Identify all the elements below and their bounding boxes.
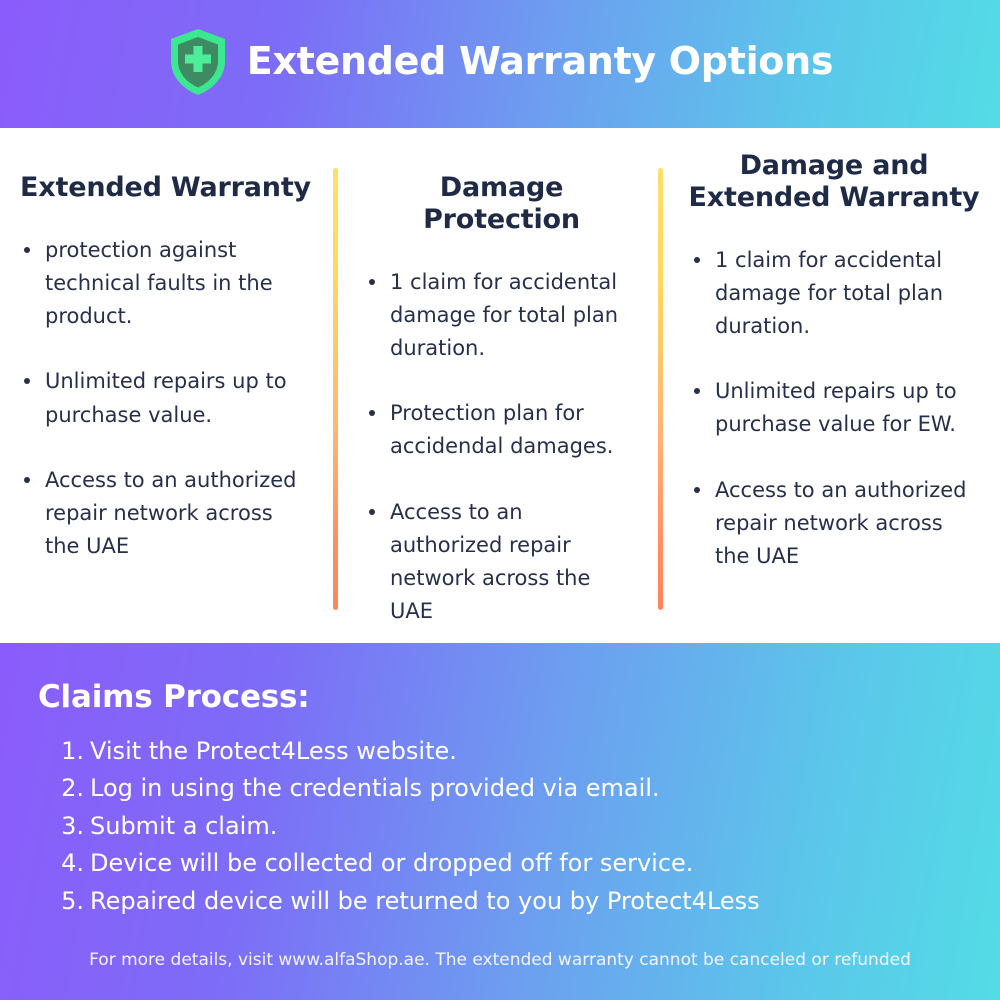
column-title: Damage and Extended Warranty — [688, 150, 980, 214]
shield-plus-icon — [167, 27, 229, 97]
claims-step: Submit a claim. — [58, 808, 970, 845]
feature-item: Access to an authorized repair network a… — [688, 474, 980, 574]
plan-column-damage-protection: Damage Protection 1 claim for accidental… — [335, 150, 660, 643]
claims-step: Visit the Protect4Less website. — [58, 733, 970, 770]
warranty-options-infographic: Extended Warranty Options Extended Warra… — [0, 0, 1000, 1000]
column-title: Extended Warranty — [18, 172, 313, 204]
page-title: Extended Warranty Options — [247, 41, 833, 83]
feature-list: protection against technical faults in t… — [18, 234, 313, 563]
feature-item: Unlimited repairs up to purchase value f… — [688, 375, 980, 441]
claims-process-title: Claims Process: — [38, 679, 970, 715]
feature-item: Unlimited repairs up to purchase value. — [18, 365, 313, 431]
footer-note: For more details, visit www.alfaShop.ae.… — [0, 950, 1000, 970]
claims-step: Repaired device will be returned to you … — [58, 883, 970, 920]
plan-column-extended-warranty: Extended Warranty protection against tec… — [0, 150, 335, 643]
comparison-section: Extended Warranty protection against tec… — [0, 128, 1000, 643]
feature-item: Access to an authorized repair network a… — [363, 496, 640, 629]
claims-step: Log in using the credentials provided vi… — [58, 770, 970, 807]
feature-item: 1 claim for accidental damage for total … — [688, 244, 980, 344]
header-banner: Extended Warranty Options — [0, 0, 1000, 128]
feature-item: Access to an authorized repair network a… — [18, 464, 313, 564]
claims-process-section: Claims Process: Visit the Protect4Less w… — [0, 643, 1000, 1000]
feature-list: 1 claim for accidental damage for total … — [363, 266, 640, 629]
claims-step: Device will be collected or dropped off … — [58, 845, 970, 882]
claims-steps-list: Visit the Protect4Less website. Log in u… — [38, 733, 970, 920]
feature-item: protection against technical faults in t… — [18, 234, 313, 334]
column-title: Damage Protection — [363, 172, 640, 236]
feature-list: 1 claim for accidental damage for total … — [688, 244, 980, 573]
feature-item: 1 claim for accidental damage for total … — [363, 266, 640, 366]
feature-item: Protection plan for accidendal damages. — [363, 397, 640, 463]
plan-column-damage-and-extended-warranty: Damage and Extended Warranty 1 claim for… — [660, 150, 1000, 643]
